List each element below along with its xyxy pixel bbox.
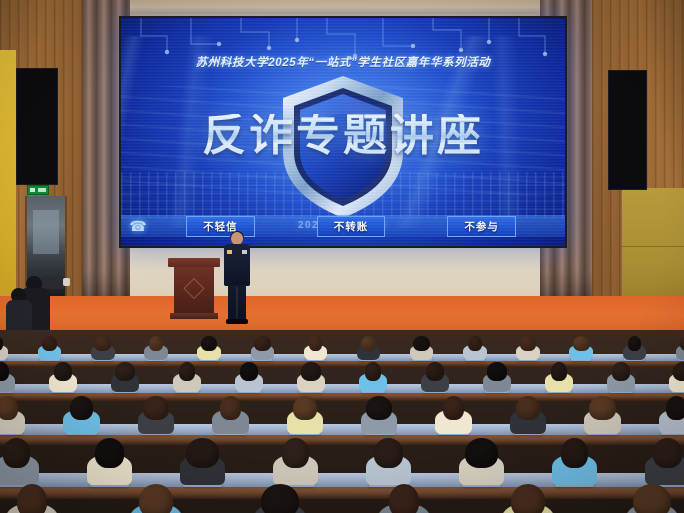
led-screen-content: 苏州科技大学2025年“一站式”学生社区嘉年华系列活动 xyxy=(121,18,565,246)
audience-member-head xyxy=(468,336,482,351)
slogan-list: 不轻信 不转账 不参与 xyxy=(155,216,565,237)
audience-desk xyxy=(0,361,684,367)
video-camera-icon xyxy=(42,276,64,289)
presenter-shoes xyxy=(226,319,248,324)
line-array-speaker-left xyxy=(16,68,58,185)
audience-member-head xyxy=(143,396,170,420)
wooden-lectern xyxy=(168,258,220,320)
audience-member-head xyxy=(389,484,419,513)
audience-member-head xyxy=(149,336,163,351)
audience-member-head xyxy=(365,362,382,381)
lectern-top xyxy=(168,258,220,267)
phone-signal-icon: ☎ xyxy=(121,218,155,235)
audience-member-head xyxy=(179,362,196,381)
audience-member-head xyxy=(443,396,464,420)
audience-member-head xyxy=(3,438,29,468)
audience-member-head xyxy=(254,336,271,351)
audience-member-head xyxy=(561,438,587,468)
auditorium-photo: 苏州科技大学2025年“一站式”学生社区嘉年华系列活动 xyxy=(0,0,684,513)
audience-member-head xyxy=(628,336,642,351)
audience-member-head xyxy=(186,438,219,468)
seat-back-band xyxy=(0,424,684,435)
audience-member-head xyxy=(293,396,317,420)
audience-member-head xyxy=(612,362,631,381)
presentation-main-title: 反诈专题讲座 xyxy=(121,114,565,158)
audience-member-head xyxy=(115,362,136,381)
audience-member-head xyxy=(139,484,173,513)
audience-member-head xyxy=(666,396,684,420)
audience-member-head xyxy=(17,484,47,513)
audience-seating-area xyxy=(0,330,684,513)
videographer-with-camera xyxy=(6,272,64,334)
line-array-speaker-right xyxy=(608,70,647,190)
presenter-badge-left xyxy=(227,250,232,254)
audience-member-head xyxy=(551,362,568,381)
slogan-bar: ☎ 不轻信 不转账 不参与 xyxy=(121,215,565,237)
lectern-base xyxy=(170,313,218,319)
audience-member-head xyxy=(413,336,430,351)
audience-member-head xyxy=(220,396,241,420)
audience-member-head xyxy=(261,484,299,513)
audience-member-head xyxy=(0,396,18,420)
assistant-body xyxy=(6,300,32,334)
audience-member-head xyxy=(94,336,111,351)
emergency-exit-sign xyxy=(27,185,49,195)
audience-member-head xyxy=(240,362,259,381)
audience-member-head xyxy=(301,362,322,381)
audience-member-head xyxy=(282,438,308,468)
presenter-badge-right xyxy=(242,250,247,254)
police-officer-presenter xyxy=(222,232,252,324)
slogan-item-2: 不转账 xyxy=(317,216,386,237)
audience-member-head xyxy=(516,396,540,420)
audience-member-head xyxy=(589,396,616,420)
slogan-item-3: 不参与 xyxy=(447,216,516,237)
screen-header-text: 苏州科技大学2025年“一站式”学生社区嘉年华系列活动 xyxy=(121,54,565,70)
audience-member-head xyxy=(366,396,393,420)
led-screen: 苏州科技大学2025年“一站式”学生社区嘉年华系列活动 xyxy=(119,16,567,248)
audience-member-head xyxy=(309,336,323,351)
audience-desk xyxy=(0,487,684,499)
audience-member-head xyxy=(573,336,590,351)
audience-member-head xyxy=(201,336,216,351)
audience-member-head xyxy=(70,396,94,420)
audience-member-head xyxy=(95,438,125,468)
audience-member-head xyxy=(673,362,684,381)
seat-back-band xyxy=(0,384,684,393)
audience-member-head xyxy=(633,484,671,513)
audience-member-head xyxy=(374,438,404,468)
presenter-trousers xyxy=(228,285,246,321)
audience-member-head xyxy=(465,438,498,468)
audience-member-head xyxy=(653,438,683,468)
audience-member-head xyxy=(520,336,535,351)
audience-member-head xyxy=(361,336,376,351)
audience-member-head xyxy=(42,336,57,351)
audience-desk xyxy=(0,393,684,401)
lectern-body xyxy=(174,267,214,313)
door-glass-panel xyxy=(33,210,59,254)
audience-member-head xyxy=(487,362,508,381)
audience-member-head xyxy=(426,362,445,381)
audience-member-head xyxy=(511,484,545,513)
audience-member-head xyxy=(54,362,73,381)
